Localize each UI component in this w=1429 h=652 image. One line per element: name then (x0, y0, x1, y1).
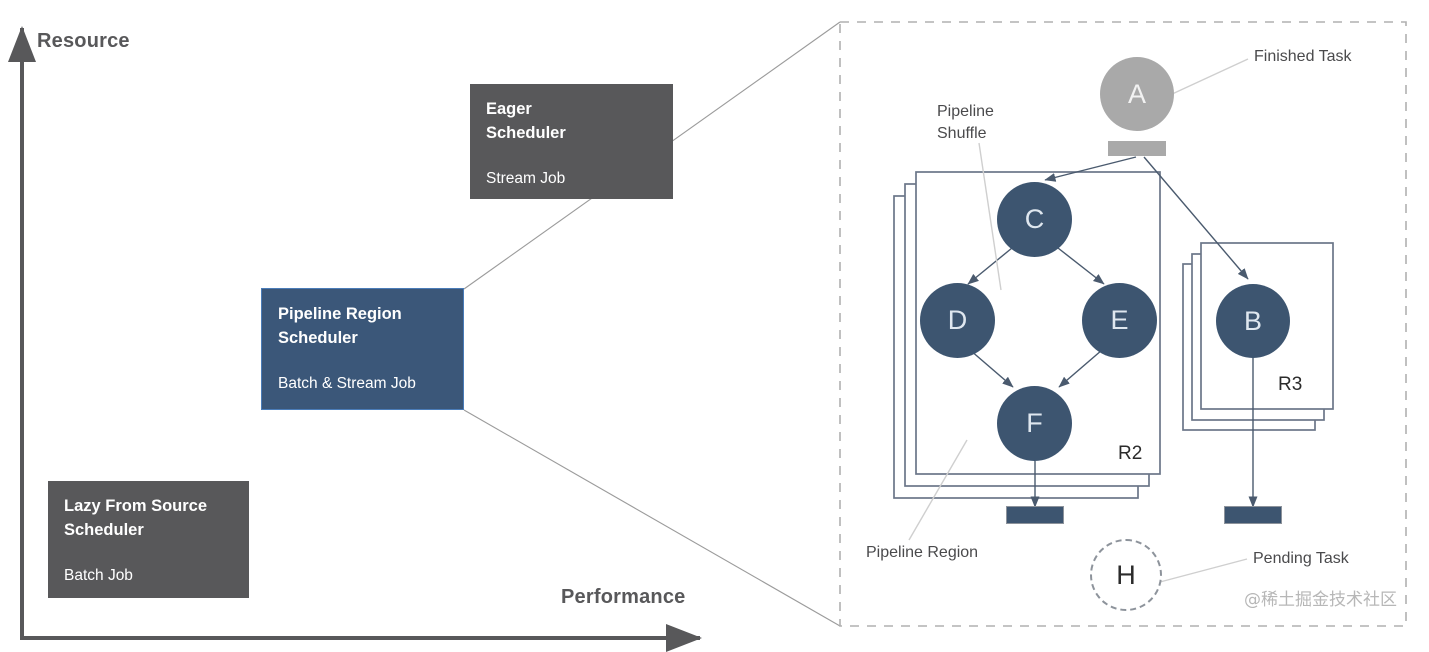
eager-scheduler-box[interactable]: Eager Scheduler Stream Job (470, 84, 673, 199)
lazy-from-source-scheduler-box[interactable]: Lazy From Source Scheduler Batch Job (48, 481, 249, 598)
leader-finished-task (1170, 59, 1248, 95)
pipeline-region-scheduler-box[interactable]: Pipeline Region Scheduler Batch & Stream… (261, 288, 464, 410)
task-node-e[interactable]: E (1082, 283, 1157, 358)
lazy-from-source-scheduler-title: Lazy From Source Scheduler (64, 495, 233, 543)
annotation-pipeline-shuffle: Pipeline Shuffle (937, 101, 994, 144)
task-node-b[interactable]: B (1216, 284, 1290, 358)
task-node-c[interactable]: C (997, 182, 1072, 257)
task-node-h[interactable]: H (1090, 539, 1162, 611)
task-node-a[interactable]: A (1100, 57, 1174, 131)
task-node-f[interactable]: F (997, 386, 1072, 461)
region-label-r2: R2 (1118, 443, 1142, 465)
x-axis-label: Performance (561, 586, 685, 609)
region-label-r3: R3 (1278, 374, 1302, 396)
watermark: @稀土掘金技术社区 (1244, 585, 1397, 610)
task-node-d[interactable]: D (920, 283, 995, 358)
annotation-finished-task: Finished Task (1254, 46, 1352, 68)
pipeline-region-scheduler-subtitle: Batch & Stream Job (278, 373, 447, 395)
lazy-from-source-scheduler-subtitle: Batch Job (64, 565, 233, 587)
result-bar-b (1224, 506, 1282, 524)
annotation-pending-task: Pending Task (1253, 548, 1349, 570)
eager-scheduler-title: Eager Scheduler (486, 98, 657, 146)
result-bar-f (1006, 506, 1064, 524)
leader-pending-task (1160, 559, 1247, 582)
y-axis-label: Resource (37, 30, 130, 53)
diagram-canvas: Resource Performance Eager Scheduler Str… (0, 0, 1429, 652)
eager-scheduler-subtitle: Stream Job (486, 168, 657, 190)
result-bar-a (1108, 141, 1166, 156)
annotation-pipeline-region: Pipeline Region (866, 542, 978, 564)
pipeline-region-scheduler-title: Pipeline Region Scheduler (278, 303, 447, 351)
